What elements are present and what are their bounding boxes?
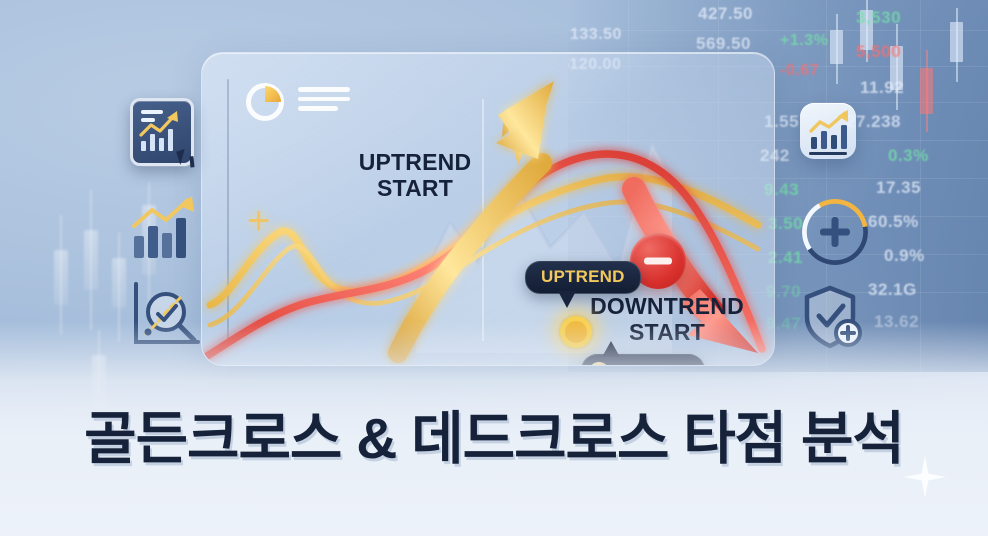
poster-canvas: 133.50 427.50 5120.00 569.50 +1.3% -0.67… <box>0 0 988 536</box>
uptrend-start-label: UPTREND START <box>320 149 510 201</box>
candlestick <box>920 50 933 132</box>
ticker-value: 0.9% <box>884 246 925 266</box>
ghost-candle <box>54 250 68 305</box>
document-chart-cursor-icon[interactable] <box>130 98 202 176</box>
ticker-value: 0.3% <box>888 146 929 166</box>
ticker-value: 569.50 <box>696 34 751 54</box>
badge-uptrend[interactable]: UPTREND <box>525 261 641 294</box>
candlestick <box>830 14 843 84</box>
ticker-value: 133.50 <box>570 26 622 44</box>
bar-chart-card-icon[interactable] <box>800 103 856 159</box>
page-title: 골든크로스 & 데드크로스 타점 분석 <box>0 393 988 475</box>
ticker-value: 427.50 <box>698 4 753 24</box>
ghost-candle <box>84 230 98 290</box>
chart-card: + <box>201 52 775 366</box>
ticker-value: 60.5% <box>868 212 919 232</box>
ticker-value: 5,500 <box>856 42 901 62</box>
ticker-value: 32.1G <box>868 280 917 300</box>
ticker-value: 11.92 <box>860 78 904 98</box>
bar-chart-growth-icon[interactable] <box>132 196 202 260</box>
ticker-value: +1.3% <box>780 32 828 50</box>
badge-uptrend-label: UPTREND <box>541 267 625 287</box>
candlestick <box>950 8 963 82</box>
ticker-value: 3,530 <box>856 8 901 28</box>
ticker-value: -0.67 <box>780 62 819 80</box>
donut-plus-icon[interactable] <box>802 199 868 265</box>
ghost-candle <box>112 258 126 308</box>
ticker-value: 17.35 <box>876 178 921 198</box>
